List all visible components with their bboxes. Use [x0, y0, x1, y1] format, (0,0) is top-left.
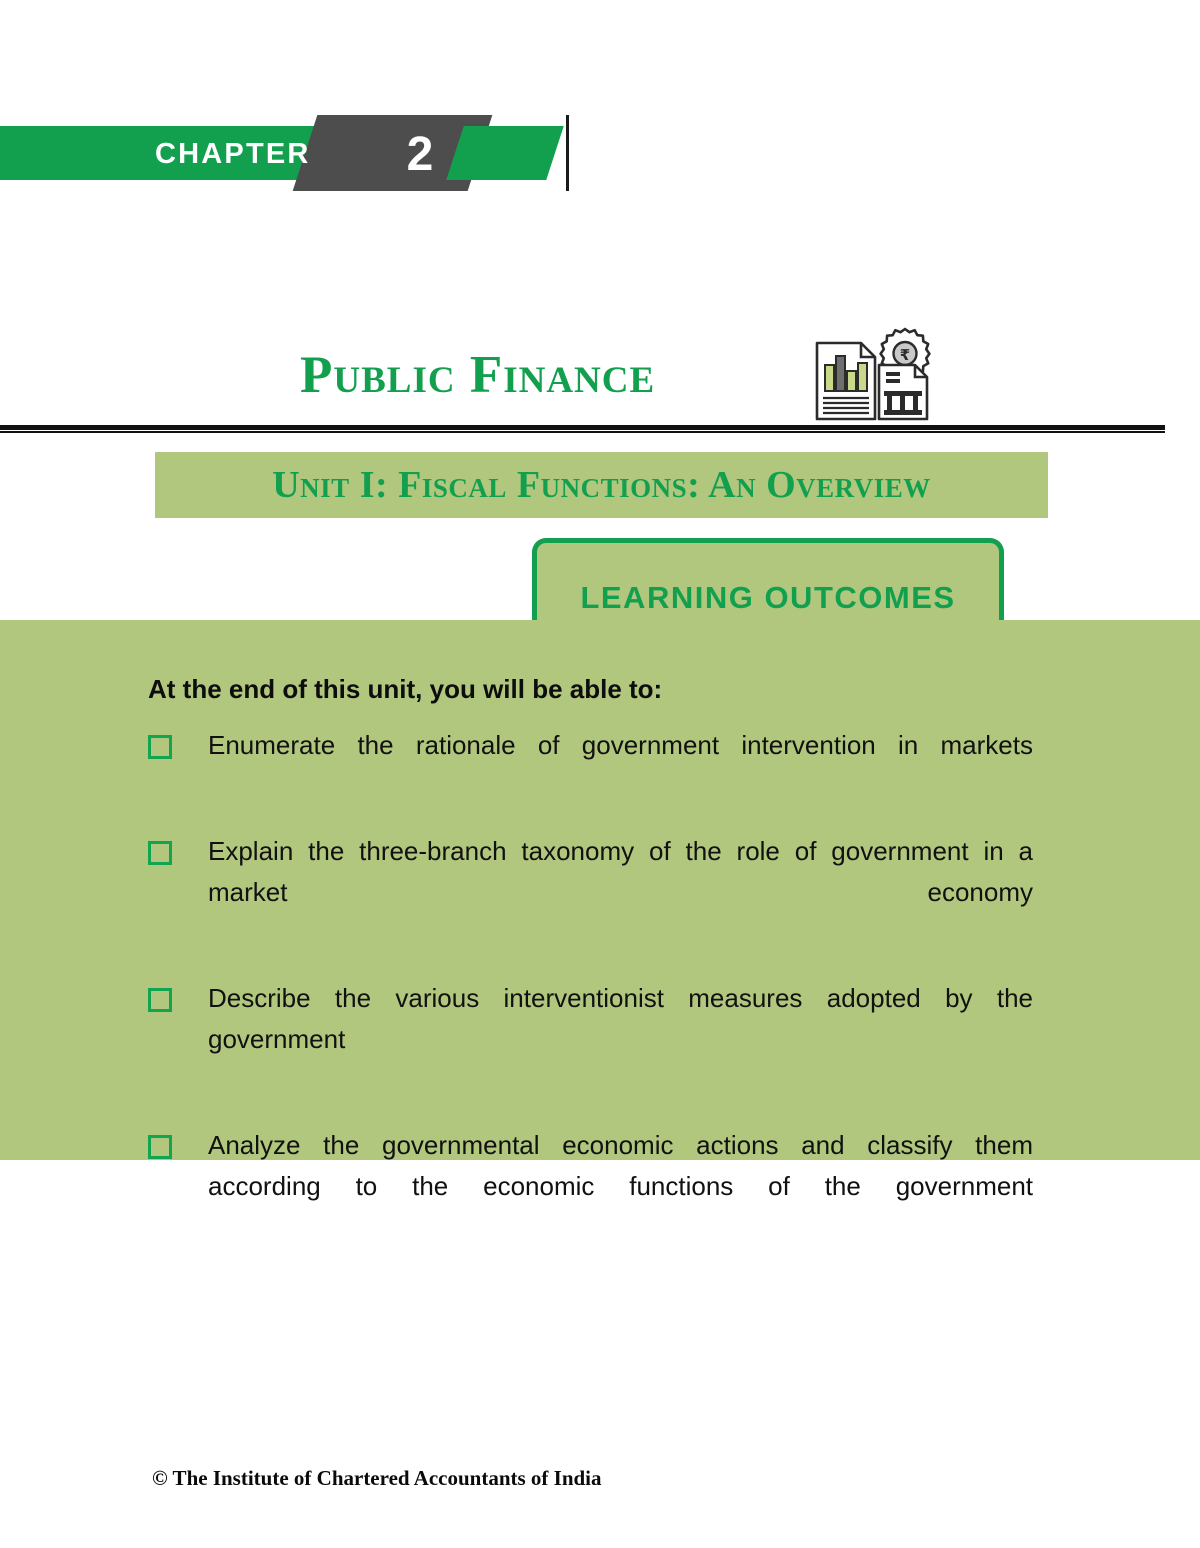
- title-divider-rule-thin: [0, 431, 1165, 433]
- svg-text:₹: ₹: [900, 346, 910, 364]
- learning-outcomes-panel: At the end of this unit, you will be abl…: [0, 620, 1200, 1160]
- chapter-banner-green-tip: [446, 126, 564, 180]
- chapter-banner: CHAPTER 2: [0, 112, 580, 192]
- list-item: Enumerate the rationale of government in…: [148, 725, 1033, 807]
- hollow-square-bullet-icon: [148, 735, 172, 759]
- list-item-text: Describe the various interventionist mea…: [208, 978, 1033, 1101]
- chapter-label: CHAPTER: [155, 138, 311, 171]
- unit-heading-band: Unit I: Fiscal Functions: An Overview: [155, 452, 1048, 518]
- title-divider-rule: [0, 425, 1165, 430]
- list-item: Describe the various interventionist mea…: [148, 978, 1033, 1101]
- list-item-text: Enumerate the rationale of government in…: [208, 725, 1033, 807]
- learning-outcomes-list: Enumerate the rationale of government in…: [148, 725, 1033, 1272]
- hollow-square-bullet-icon: [148, 988, 172, 1012]
- chapter-banner-end-rule: [566, 115, 569, 191]
- unit-heading-text: Unit I: Fiscal Functions: An Overview: [272, 463, 931, 507]
- learning-outcomes-tab: LEARNING OUTCOMES: [532, 538, 1004, 622]
- hollow-square-bullet-icon: [148, 841, 172, 865]
- hollow-square-bullet-icon: [148, 1135, 172, 1159]
- footer-copyright: © The Institute of Chartered Accountants…: [152, 1466, 602, 1491]
- list-item-text: Analyze the governmental economic action…: [208, 1125, 1033, 1248]
- list-item: Explain the three-branch taxonomy of the…: [148, 831, 1033, 954]
- chapter-number: 2: [390, 127, 450, 182]
- finance-document-gear-icon: ₹: [805, 327, 940, 422]
- list-item: Analyze the governmental economic action…: [148, 1125, 1033, 1248]
- learning-outcomes-intro: At the end of this unit, you will be abl…: [148, 674, 662, 705]
- list-item-text: Explain the three-branch taxonomy of the…: [208, 831, 1033, 954]
- learning-outcomes-tab-label: LEARNING OUTCOMES: [580, 580, 955, 622]
- page-title-row: Public Finance ₹: [0, 345, 1165, 425]
- page-title: Public Finance: [300, 345, 655, 405]
